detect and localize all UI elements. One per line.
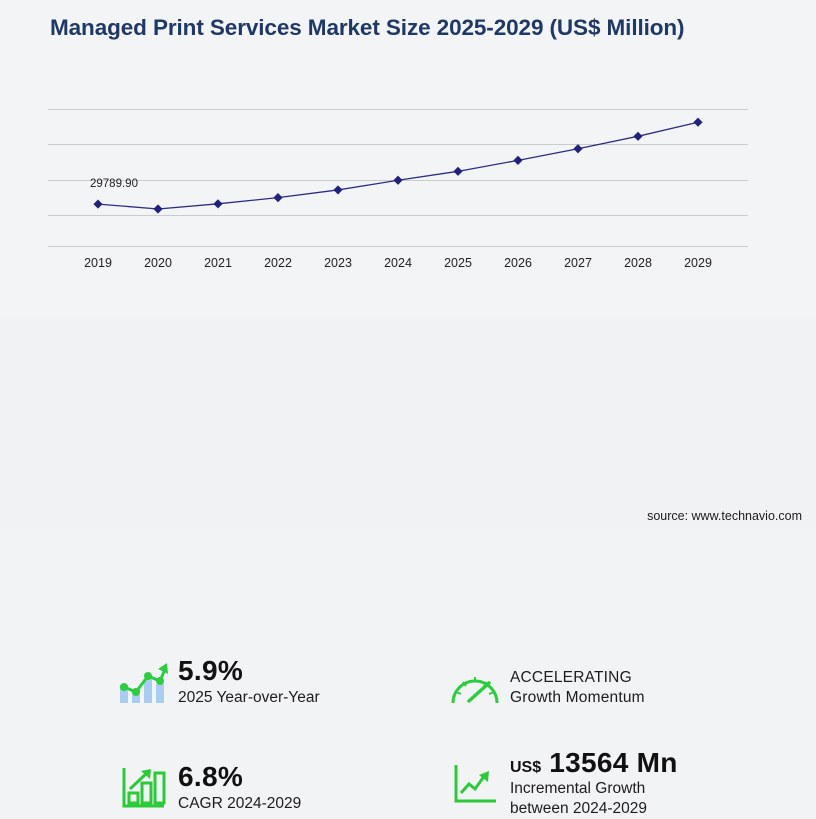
data-point-marker	[693, 118, 702, 127]
data-point-marker	[273, 193, 282, 202]
x-axis-tick: 2027	[564, 256, 592, 270]
metric-value: 6.8%	[178, 762, 301, 791]
page-title: Managed Print Services Market Size 2025-…	[50, 14, 730, 41]
x-axis-tick: 2023	[324, 256, 352, 270]
metrics-panel: 5.9% 2025 Year-over-Year ACCELERATING Gr…	[0, 318, 816, 528]
metric-momentum: ACCELERATING Growth Momentum	[446, 662, 645, 714]
x-axis-tick: 2029	[684, 256, 712, 270]
metric-value: 5.9%	[178, 656, 320, 685]
x-axis-tick: 2019	[84, 256, 112, 270]
data-point-marker	[393, 176, 402, 185]
bar-chart-trend-up-icon	[114, 656, 172, 708]
metric-currency-unit: US$	[510, 759, 541, 776]
data-point-marker	[513, 156, 522, 165]
metric-label: CAGR 2024-2029	[178, 794, 301, 814]
metric-label: 2025 Year-over-Year	[178, 688, 320, 708]
x-axis-tick: 2022	[264, 256, 292, 270]
metric-value: US$ 13564 Mn	[510, 748, 678, 777]
metric-amount: 13564 Mn	[549, 747, 677, 778]
data-point-label: 29789.90	[90, 178, 138, 190]
metric-label: Incremental Growth between 2024-2029	[510, 779, 678, 819]
x-axis-tick: 2020	[144, 256, 172, 270]
chart-plot-area: 29789.90	[48, 100, 748, 250]
x-axis-tick: 2024	[384, 256, 412, 270]
x-axis-labels: 2019202020212022202320242025202620272028…	[48, 256, 748, 276]
data-point-marker	[633, 132, 642, 141]
x-axis-tick: 2021	[204, 256, 232, 270]
chart-panel: Managed Print Services Market Size 2025-…	[0, 0, 816, 318]
momentum-line-1: ACCELERATING	[510, 668, 645, 688]
data-point-marker	[93, 199, 102, 208]
x-axis-tick: 2028	[624, 256, 652, 270]
data-point-marker	[213, 199, 222, 208]
data-point-marker	[333, 185, 342, 194]
metric-cagr: 6.8% CAGR 2024-2029	[114, 762, 301, 814]
metric-yoy: 5.9% 2025 Year-over-Year	[114, 656, 320, 708]
x-axis-tick: 2025	[444, 256, 472, 270]
infographic-page: Managed Print Services Market Size 2025-…	[0, 0, 816, 528]
momentum-line-2: Growth Momentum	[510, 688, 645, 708]
x-axis-tick: 2026	[504, 256, 532, 270]
data-point-marker	[153, 204, 162, 213]
bar-chart-arrow-icon	[114, 762, 172, 814]
speedometer-gauge-icon	[446, 662, 504, 714]
line-chart-arrow-icon	[446, 758, 504, 810]
line-series	[48, 100, 748, 250]
data-point-marker	[573, 144, 582, 153]
metric-incremental-growth: US$ 13564 Mn Incremental Growth between …	[446, 748, 678, 819]
data-point-marker	[453, 167, 462, 176]
source-attribution: source: www.technavio.com	[647, 509, 802, 523]
